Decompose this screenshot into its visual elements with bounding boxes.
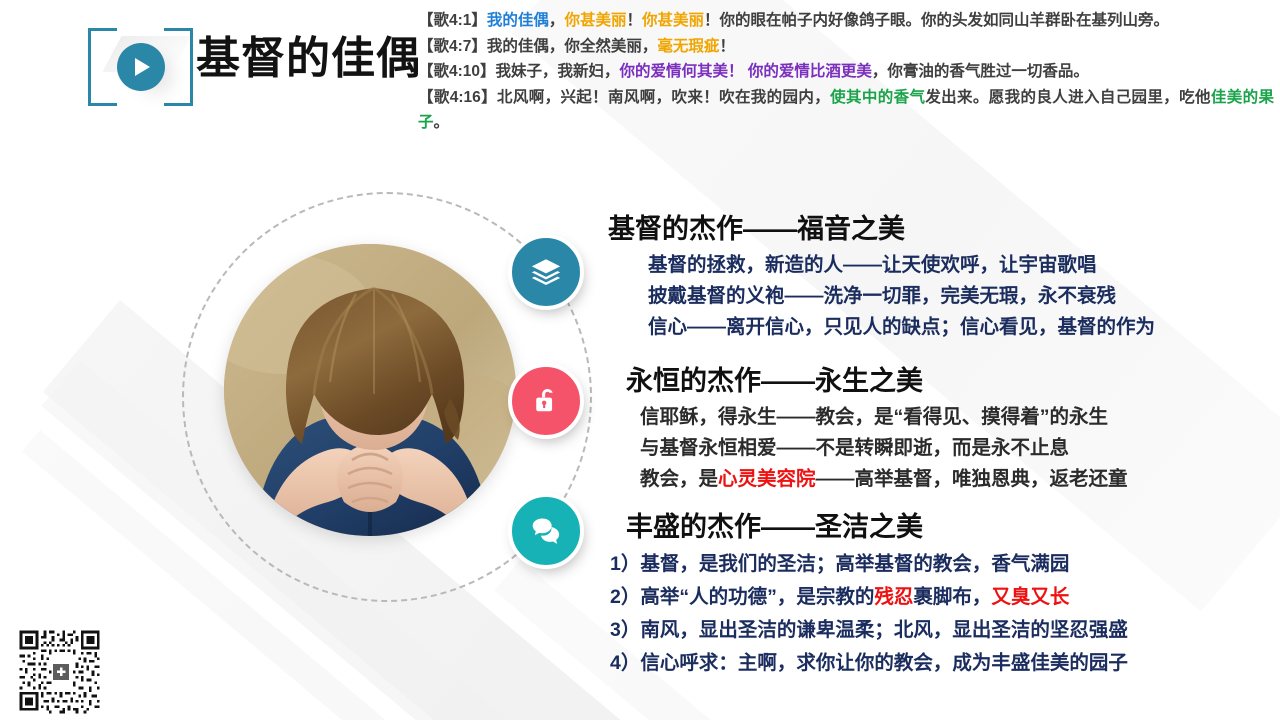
scripture-reference: 【歌4:1】 <box>418 12 487 29</box>
list-item: 信心——离开信心，只见人的缺点；信心看见，基督的作为 <box>648 312 1280 343</box>
section-item-list: 信耶稣，得永生——教会，是“看得见、摸得着”的永生与基督永恒相爱——不是转瞬即逝… <box>604 402 1280 495</box>
section-holiness-beauty: 丰盛的杰作——圣洁之美 1）基督，是我们的圣洁；高举基督的教会，香气满园2）高举… <box>604 512 1280 680</box>
list-item-run: 裹脚布， <box>913 586 991 608</box>
list-item-run: 3）南风，显出圣洁的谦卑温柔；北风，显出圣洁的坚忍强盛 <box>610 619 1128 641</box>
scripture-reference: 【歌4:16】 <box>418 89 497 106</box>
scripture-line: 【歌4:10】我妹子，我新妇，你的爱情何其美！ 你的爱情比酒更美，你膏油的香气胜… <box>418 59 1274 85</box>
list-item: 3）南风，显出圣洁的谦卑温柔；北风，显出圣洁的坚忍强盛 <box>610 614 1280 647</box>
section-numbered-list: 1）基督，是我们的圣洁；高举基督的教会，香气满园2）高举“人的功德”，是宗教的残… <box>604 548 1280 680</box>
play-button-icon <box>117 43 165 91</box>
scripture-text-run: ！ <box>626 12 642 29</box>
list-item-run: 与基督永恒相爱——不是转瞬即逝，而是永不止息 <box>640 437 1069 459</box>
section-heading: 基督的杰作——福音之美 <box>604 214 1280 246</box>
scripture-text-run: 使其中的香气 <box>830 89 925 106</box>
list-item-run: 基督的拯救，新造的人——让天使欢呼，让宇宙歌唱 <box>648 254 1097 276</box>
list-item-run: 心灵美容院 <box>718 468 816 490</box>
page-title: 基督的佳偶 <box>196 37 421 81</box>
scripture-line: 【歌4:7】我的佳偶，你全然美丽，毫无瑕疵！ <box>418 34 1274 60</box>
scripture-text-run: 你甚美丽 <box>642 12 704 29</box>
scripture-text-run: 毫无瑕疵 <box>657 38 719 55</box>
section-gospel-beauty: 基督的杰作——福音之美 基督的拯救，新造的人——让天使欢呼，让宇宙歌唱披戴基督的… <box>604 214 1280 343</box>
section-heading: 丰盛的杰作——圣洁之美 <box>604 512 1280 544</box>
bracket-frame-icon <box>88 28 193 106</box>
list-item: 1）基督，是我们的圣洁；高举基督的教会，香气满园 <box>610 548 1280 581</box>
list-item-run: 1）基督，是我们的圣洁；高举基督的教会，香气满园 <box>610 553 1069 575</box>
list-item: 4）信心呼求：主啊，求你让你的教会，成为丰盛佳美的园子 <box>610 647 1280 680</box>
scripture-block: 【歌4:1】我的佳偶，你甚美丽！你甚美丽！你的眼在帕子内好像鸽子眼。你的头发如同… <box>418 8 1274 136</box>
scripture-reference: 【歌4:10】 <box>418 63 496 80</box>
list-item: 2）高举“人的功德”，是宗教的残忍裹脚布，又臭又长 <box>610 581 1280 614</box>
scripture-text-run: 发出来。愿我的良人进入自己园里，吃他 <box>925 89 1211 106</box>
list-item-run: 残忍 <box>874 586 913 608</box>
unlock-icon[interactable] <box>508 363 584 439</box>
list-item-run: 4）信心呼求：主啊，求你让你的教会，成为丰盛佳美的园子 <box>610 652 1128 674</box>
scripture-text-run: ， <box>549 12 565 29</box>
scripture-text-run: 你的爱情比酒更美 <box>748 63 872 80</box>
scripture-text-run: 我的佳偶，你全然美丽， <box>487 38 658 55</box>
scripture-text-run: ！ <box>719 38 735 55</box>
qr-code[interactable] <box>14 628 108 716</box>
scripture-text-run: 你的爱情何其美！ <box>620 63 744 80</box>
scripture-text-run: 。 <box>434 114 450 131</box>
list-item-run: 披戴基督的义袍——洗净一切罪，完美无瑕，永不衰残 <box>648 285 1116 307</box>
scripture-text-run: 我的佳偶 <box>487 12 549 29</box>
scripture-text-run: ，你膏油的香气胜过一切香品。 <box>872 63 1089 80</box>
scripture-text-run: 你甚美丽 <box>564 12 626 29</box>
list-item-run: 2）高举“人的功德”，是宗教的 <box>610 586 874 608</box>
scripture-text-run: ！你的眼在帕子内好像鸽子眼。你的头发如同山羊群卧在基列山旁。 <box>704 12 1169 29</box>
slide-header: 基督的佳偶 【歌4:1】我的佳偶，你甚美丽！你甚美丽！你的眼在帕子内好像鸽子眼。… <box>0 0 1280 185</box>
list-item: 基督的拯救，新造的人——让天使欢呼，让宇宙歌唱 <box>648 250 1280 281</box>
list-item-run: ——高举基督，唯独恩典，返老还童 <box>816 468 1128 490</box>
scripture-line: 【歌4:1】我的佳偶，你甚美丽！你甚美丽！你的眼在帕子内好像鸽子眼。你的头发如同… <box>418 8 1274 34</box>
list-item-run: 信耶稣，得永生——教会，是“看得见、摸得着”的永生 <box>640 406 1108 428</box>
list-item-run: 又臭又长 <box>991 586 1069 608</box>
section-eternal-beauty: 永恒的杰作——永生之美 信耶稣，得永生——教会，是“看得见、摸得着”的永生与基督… <box>604 366 1280 495</box>
list-item: 与基督永恒相爱——不是转瞬即逝，而是永不止息 <box>640 433 1280 464</box>
scripture-reference: 【歌4:7】 <box>418 38 487 55</box>
section-item-list: 基督的拯救，新造的人——让天使欢呼，让宇宙歌唱披戴基督的义袍——洗净一切罪，完美… <box>604 250 1280 343</box>
list-item-run: 信心——离开信心，只见人的缺点；信心看见，基督的作为 <box>648 316 1155 338</box>
child-praying-photo <box>224 244 516 536</box>
scripture-text-run: 北风啊，兴起！南风啊，吹来！吹在我的园内， <box>497 89 830 106</box>
scripture-text-run: 我妹子，我新妇， <box>496 63 620 80</box>
list-item: 披戴基督的义袍——洗净一切罪，完美无瑕，永不衰残 <box>648 281 1280 312</box>
list-item: 教会，是心灵美容院——高举基督，唯独恩典，返老还童 <box>640 464 1280 495</box>
chat-bubbles-icon[interactable] <box>508 493 584 569</box>
layers-icon[interactable] <box>508 234 584 310</box>
scripture-line: 【歌4:16】北风啊，兴起！南风啊，吹来！吹在我的园内，使其中的香气发出来。愿我… <box>418 85 1274 136</box>
list-item: 信耶稣，得永生——教会，是“看得见、摸得着”的永生 <box>640 402 1280 433</box>
section-heading: 永恒的杰作——永生之美 <box>604 366 1280 398</box>
list-item-run: 教会，是 <box>640 468 718 490</box>
